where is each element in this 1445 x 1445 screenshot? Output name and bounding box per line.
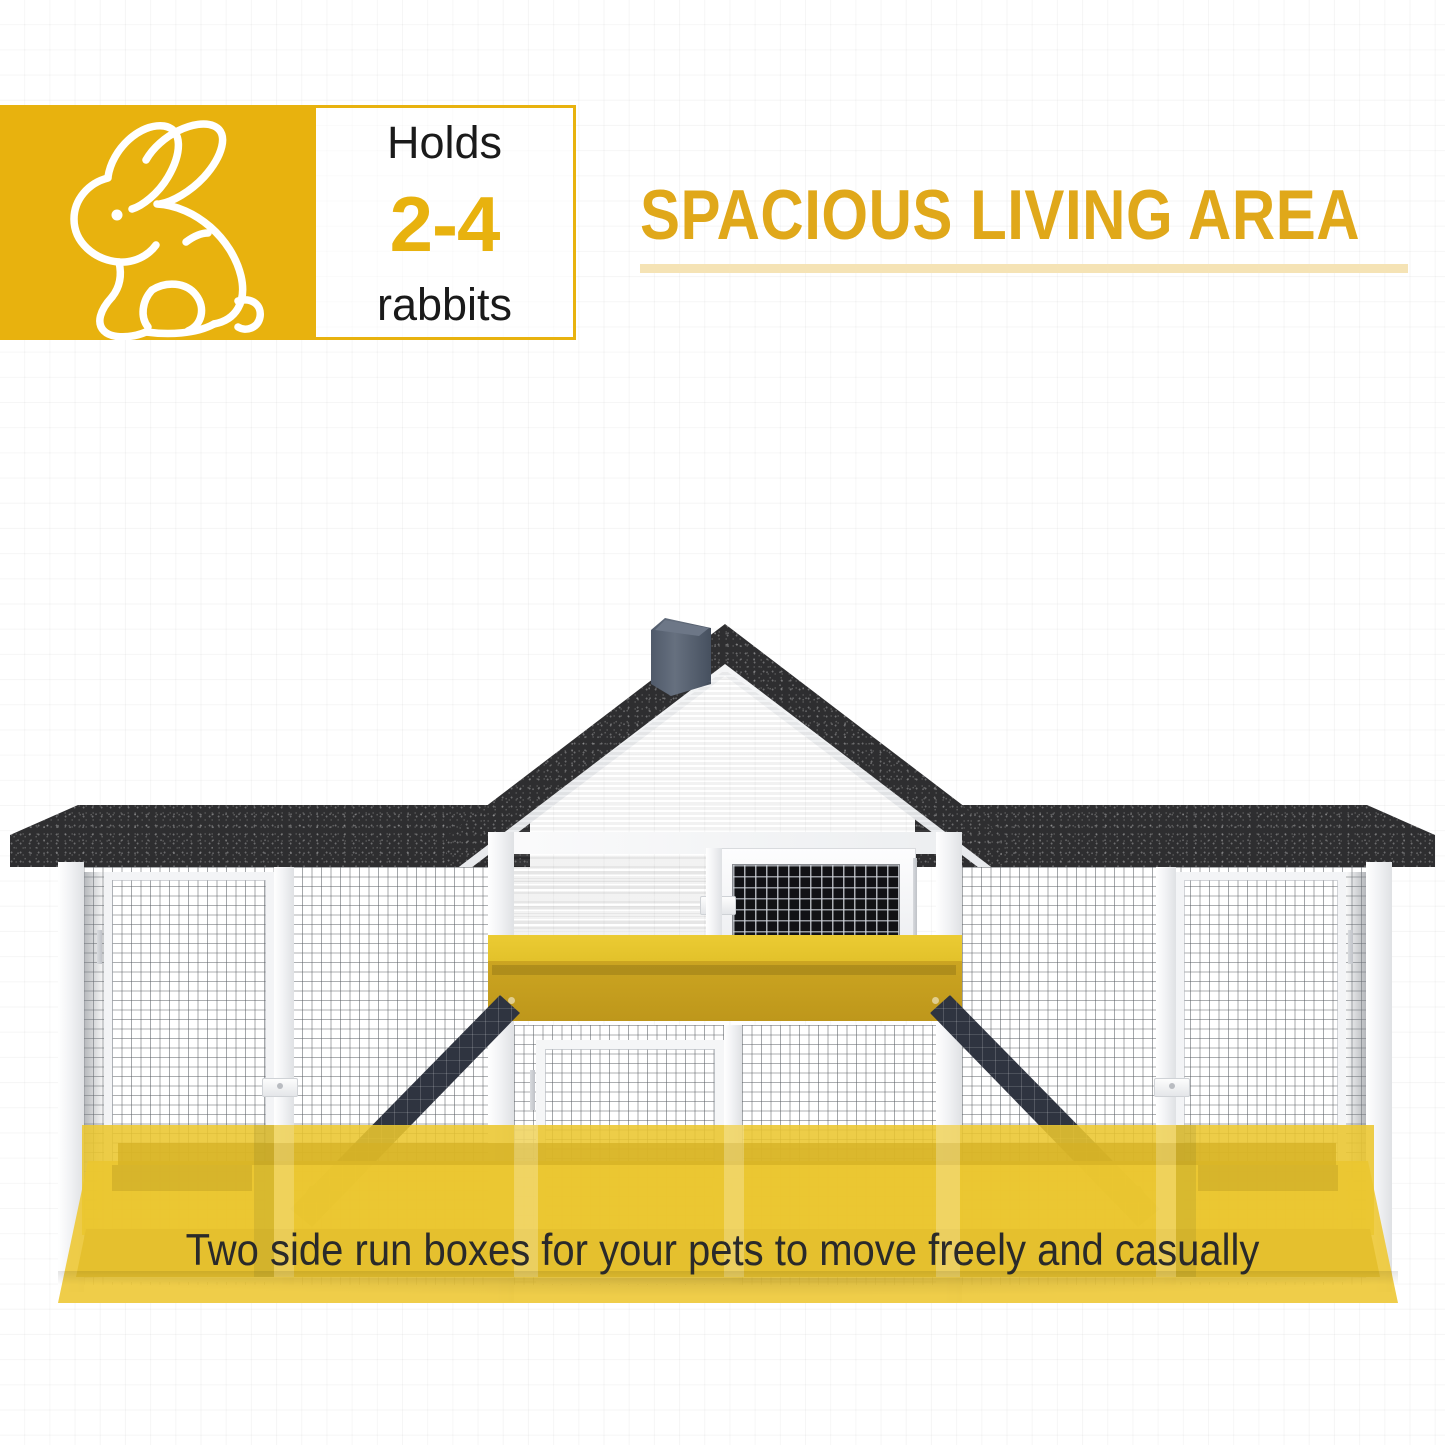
badge-capacity-count: 2-4 bbox=[390, 185, 500, 263]
badge-icon-panel bbox=[0, 105, 316, 340]
yellow-platform bbox=[468, 935, 980, 1021]
feature-caption: Two side run boxes for your pets to move… bbox=[0, 1226, 1445, 1276]
right-tray-well bbox=[1198, 1165, 1338, 1191]
title-underline-rule bbox=[640, 264, 1408, 273]
page-title: SPACIOUS LIVING AREA bbox=[640, 180, 1430, 251]
left-run-latch-screw bbox=[277, 1083, 283, 1089]
product-feature-image: Holds 2-4 rabbits SPACIOUS LIVING AREA bbox=[0, 0, 1445, 1445]
capacity-badge: Holds 2-4 rabbits bbox=[0, 105, 576, 340]
badge-text-panel: Holds 2-4 rabbits bbox=[316, 105, 576, 340]
platform-screw-left bbox=[508, 997, 515, 1004]
badge-line-1: Holds bbox=[387, 120, 502, 165]
right-run-latch-screw bbox=[1169, 1083, 1175, 1089]
headline-block: SPACIOUS LIVING AREA bbox=[640, 180, 1430, 273]
product-illustration bbox=[0, 600, 1445, 1220]
platform-screw-right bbox=[932, 997, 939, 1004]
lower-center-door-hinge bbox=[530, 1070, 535, 1110]
badge-line-2: rabbits bbox=[377, 282, 512, 327]
rabbit-icon bbox=[0, 105, 316, 340]
left-tray-well bbox=[112, 1165, 252, 1191]
left-run-hinge-top bbox=[97, 930, 102, 964]
ground-shadow bbox=[70, 1278, 1390, 1296]
right-run-hinge-top bbox=[1348, 930, 1353, 964]
